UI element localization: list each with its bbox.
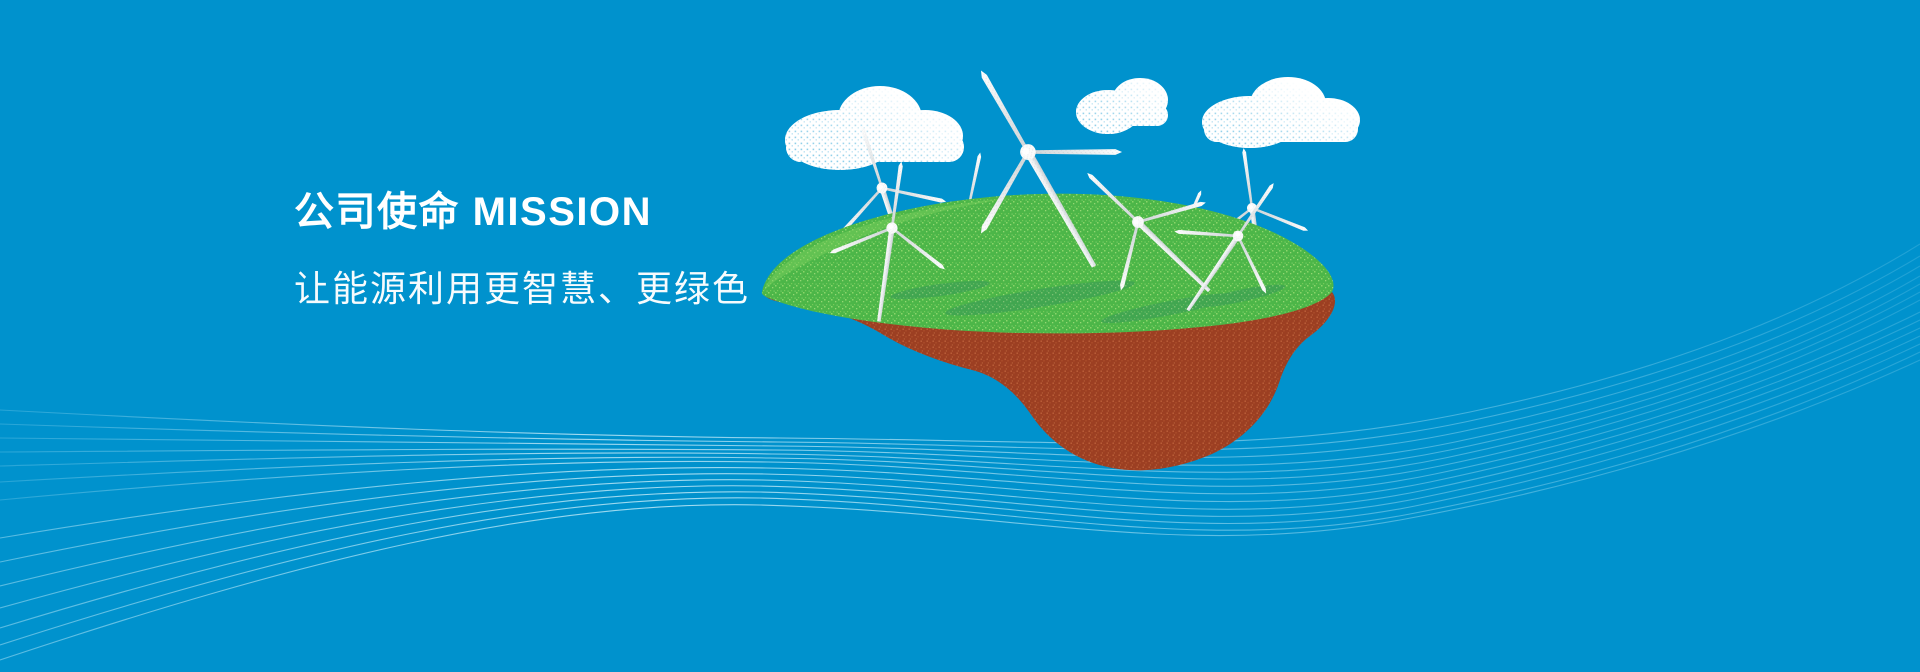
- cloud-right-icon: [1202, 77, 1360, 148]
- cloud-left-icon: [785, 86, 964, 170]
- page-title: 公司使命 MISSION: [294, 186, 854, 238]
- cloud-middle-icon: [1076, 78, 1168, 134]
- mission-text-block: 公司使命 MISSION 让能源利用更智慧、更绿色: [294, 186, 854, 312]
- page-subtitle: 让能源利用更智慧、更绿色: [294, 266, 854, 312]
- mission-banner: 公司使命 MISSION 让能源利用更智慧、更绿色: [0, 0, 1920, 672]
